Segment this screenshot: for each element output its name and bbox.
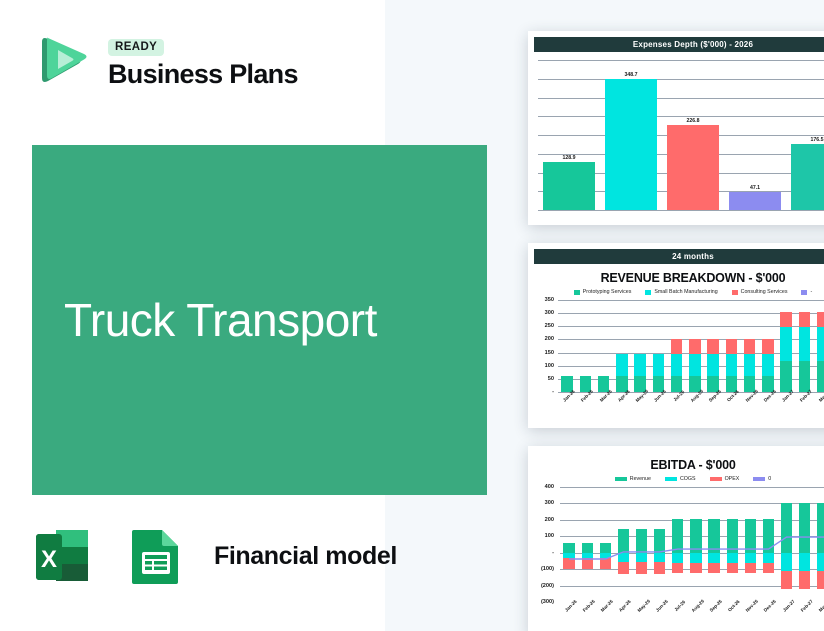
revenue-bar-column (814, 300, 824, 392)
revenue-stack (634, 354, 645, 392)
chart-card-revenue: 24 months REVENUE BREAKDOWN - $'000 Prot… (528, 243, 824, 428)
y-axis-tick: - (552, 389, 554, 395)
revenue-bar-column (558, 300, 576, 392)
revenue-plot-area: 35030025020015010050- Jan-26Feb-26Mar-26… (534, 300, 824, 392)
legend-label: Revenue (630, 476, 651, 482)
legend-label: 0 (768, 476, 771, 482)
legend-item: Prototyping Services (574, 289, 632, 295)
ebitda-y-axis: 400300200100-(100)(200)(300) (534, 487, 556, 602)
legend-item: Consulting Services (732, 289, 788, 295)
gridline (538, 210, 824, 211)
revenue-bar-segment (634, 354, 645, 376)
revenue-stack (616, 354, 627, 392)
legend-swatch (801, 290, 807, 295)
footer-label: Financial model (214, 542, 397, 571)
expenses-bar-column: 226.8 (667, 60, 720, 210)
revenue-bar-segment (780, 327, 791, 361)
revenue-period-strip: 24 months (534, 249, 824, 264)
revenue-stack (726, 339, 737, 392)
brand-text-block: READY Business Plans (108, 37, 298, 90)
revenue-bar-segment (707, 354, 718, 376)
expenses-bars: 128.9348.7226.847.1176.5 (538, 60, 824, 210)
gridline (558, 392, 824, 393)
revenue-bar-column (595, 300, 613, 392)
play-triangle-logo-icon (32, 28, 94, 90)
revenue-bar-segment (762, 339, 773, 353)
revenue-bar-segment (799, 327, 810, 361)
slide-canvas: READY Business Plans Truck Transport X (0, 0, 824, 631)
expenses-bar-column: 348.7 (605, 60, 658, 210)
legend-label: OPEX (725, 476, 740, 482)
revenue-bar-segment (799, 361, 810, 392)
legend-item: 0 (753, 476, 771, 482)
google-sheets-icon (120, 520, 192, 592)
revenue-bar-segment (817, 312, 824, 326)
brand-name: Business Plans (108, 61, 298, 88)
legend-swatch (574, 290, 580, 295)
microsoft-excel-icon: X (32, 520, 104, 592)
y-axis-tick: (300) (541, 599, 554, 605)
expenses-bar (729, 192, 782, 210)
y-axis-tick: (100) (541, 566, 554, 572)
footer-formats: X Financial model (32, 520, 397, 592)
legend-label: COGS (680, 476, 696, 482)
y-axis-tick: 300 (545, 310, 554, 316)
legend-item: - (801, 289, 812, 295)
revenue-bar-column (722, 300, 740, 392)
legend-item: Small Batch Manufacturing (645, 289, 717, 295)
expenses-bar-column: 128.9 (543, 60, 596, 210)
expenses-bar-value-label: 47.1 (750, 185, 760, 191)
ebitda-plot-area: 400300200100-(100)(200)(300) Jan-26Feb-2… (534, 487, 824, 602)
revenue-stack (671, 339, 682, 392)
expenses-plot-area: 128.9348.7226.847.1176.5 (538, 60, 824, 210)
expenses-bar-column: 47.1 (729, 60, 782, 210)
legend-swatch (665, 477, 677, 481)
y-axis-tick: 200 (545, 336, 554, 342)
revenue-bar-segment (671, 354, 682, 376)
legend-swatch (710, 477, 722, 481)
revenue-bar-column (741, 300, 759, 392)
ebitda-zero-line (560, 487, 824, 602)
expenses-bar (667, 125, 720, 210)
legend-item: COGS (665, 476, 696, 482)
ebitda-chart-title: EBITDA - $'000 (528, 446, 824, 474)
expenses-bar-column: 176.5 (791, 60, 824, 210)
revenue-bar-column (576, 300, 594, 392)
chart-card-expenses: Expenses Depth ($'000) - 2026 128.9348.7… (528, 31, 824, 225)
revenue-stack (689, 339, 700, 392)
revenue-bar-column (704, 300, 722, 392)
revenue-bar-segment (780, 361, 791, 392)
legend-swatch (615, 477, 627, 481)
page-title: Truck Transport (32, 145, 487, 495)
revenue-stack (707, 339, 718, 392)
revenue-stack (817, 312, 824, 392)
y-axis-tick: 150 (545, 350, 554, 356)
legend-swatch (753, 477, 765, 481)
revenue-stack (780, 312, 791, 392)
revenue-stack (744, 339, 755, 392)
ready-badge: READY (108, 39, 164, 56)
revenue-bar-column (649, 300, 667, 392)
revenue-x-axis: Jan-26Feb-26Mar-26Apr-26May-26Jun-26Jul-… (558, 394, 824, 399)
ebitda-legend: RevenueCOGSOPEX0 (528, 474, 824, 485)
y-axis-tick: 250 (545, 323, 554, 329)
expenses-bar (605, 79, 658, 210)
expenses-chart-title: Expenses Depth ($'000) - 2026 (534, 37, 824, 52)
legend-swatch (732, 290, 738, 295)
revenue-bar-segment (726, 354, 737, 376)
revenue-bar-segment (817, 361, 824, 392)
revenue-bar-column (759, 300, 777, 392)
y-axis-tick: 400 (545, 484, 554, 490)
legend-item: Revenue (615, 476, 651, 482)
revenue-bars (558, 300, 824, 392)
revenue-bar-column (795, 300, 813, 392)
y-axis-tick: 100 (545, 533, 554, 539)
revenue-bar-segment (799, 312, 810, 326)
brand-lockup: READY Business Plans (32, 28, 298, 90)
chart-card-ebitda: EBITDA - $'000 RevenueCOGSOPEX0 40030020… (528, 446, 824, 631)
y-axis-tick: 350 (545, 297, 554, 303)
expenses-bar (791, 144, 824, 210)
revenue-bar-segment (707, 339, 718, 353)
revenue-bar-segment (689, 354, 700, 376)
expenses-bar-value-label: 348.7 (625, 72, 638, 78)
expenses-bar-value-label: 128.9 (563, 155, 576, 161)
y-axis-tick: 300 (545, 500, 554, 506)
revenue-bar-segment (653, 354, 664, 376)
revenue-bar-column (668, 300, 686, 392)
revenue-bar-segment (817, 327, 824, 361)
legend-item: OPEX (710, 476, 740, 482)
expenses-bar-value-label: 176.5 (811, 137, 824, 143)
revenue-bar-segment (762, 354, 773, 376)
y-axis-tick: 100 (545, 363, 554, 369)
expenses-bar (543, 162, 596, 210)
y-axis-tick: 200 (545, 517, 554, 523)
y-axis-tick: - (552, 550, 554, 556)
legend-label: Prototyping Services (583, 289, 632, 295)
revenue-bar-segment (744, 354, 755, 376)
revenue-bar-segment (744, 339, 755, 353)
svg-text:X: X (41, 546, 57, 573)
revenue-bar-segment (671, 339, 682, 353)
ebitda-x-axis: Jan-26Feb-26Mar-26Apr-26May-26Jun-26Jul-… (560, 604, 824, 609)
revenue-chart-title: REVENUE BREAKDOWN - $'000 (528, 264, 824, 287)
revenue-stack (799, 312, 810, 392)
revenue-bar-segment (616, 354, 627, 376)
y-axis-tick: 50 (548, 376, 554, 382)
expenses-bar-value-label: 226.8 (687, 118, 700, 124)
revenue-stack (762, 339, 773, 392)
revenue-y-axis: 35030025020015010050- (534, 300, 556, 392)
revenue-bar-column (777, 300, 795, 392)
revenue-bar-column (686, 300, 704, 392)
revenue-bar-column (631, 300, 649, 392)
revenue-bar-column (613, 300, 631, 392)
legend-label: Small Batch Manufacturing (654, 289, 717, 295)
legend-label: - (810, 289, 812, 295)
revenue-legend: Prototyping ServicesSmall Batch Manufact… (528, 287, 824, 298)
revenue-stack (653, 354, 664, 392)
y-axis-tick: (200) (541, 583, 554, 589)
revenue-bar-segment (689, 339, 700, 353)
legend-label: Consulting Services (741, 289, 788, 295)
revenue-bar-segment (780, 312, 791, 326)
legend-swatch (645, 290, 651, 295)
revenue-bar-segment (726, 339, 737, 353)
